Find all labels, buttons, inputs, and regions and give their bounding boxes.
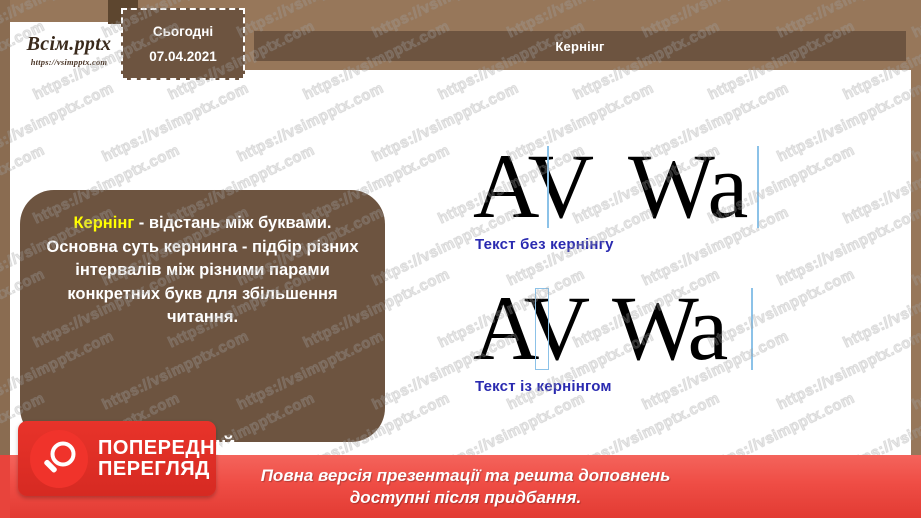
definition-term: Кернінг (73, 214, 134, 232)
date-label: Сьогодні (153, 25, 213, 39)
watermark-text: https://vsimpptx.com (909, 204, 921, 290)
watermark-text: https://vsimpptx.com (909, 80, 921, 166)
glyph-av-unkerned: AV (473, 135, 594, 237)
kerning-illustration: AVWa Текст без кернінгу AVWa Текст із ке… (455, 140, 875, 415)
preview-badge-text: ПОПЕРЕДНІЙ ПЕРЕГЛЯД (98, 438, 236, 480)
kerning-example-kerned: AVWa Текст із кернінгом (455, 282, 875, 412)
definition-line6: букв для збільшення (165, 285, 338, 303)
left-edge-strip (0, 0, 10, 518)
glyph-av-kerned: AV (473, 277, 586, 379)
banner-line-1: Повна версія презентації та решта доповн… (261, 466, 671, 486)
kern-marker-right (757, 146, 759, 228)
preview-line-1: ПОПЕРЕДНІЙ (98, 437, 236, 459)
slide-title-bar: Кернінг (254, 31, 906, 61)
kern-marker-left (547, 146, 549, 228)
page-title: Кернінг (555, 39, 604, 54)
magnifier-icon (30, 430, 88, 488)
preview-line-2: ПЕРЕГЛЯД (98, 459, 236, 480)
kerning-caption-kerned: Текст із кернінгом (475, 378, 612, 395)
logo-name: Всім.pptx (27, 34, 112, 54)
definition-text: Кернінг - відстань між буквами. Основна … (38, 212, 367, 330)
preview-badge[interactable]: ПОПЕРЕДНІЙ ПЕРЕГЛЯД (18, 421, 216, 496)
glyph-wa-kerned: Wa (612, 277, 724, 379)
date-badge: Сьогодні 07.04.2021 (121, 8, 245, 80)
kerning-caption-unkerned: Текст без кернінгу (475, 236, 614, 253)
definition-panel: Кернінг - відстань між буквами. Основна … (20, 190, 385, 442)
definition-line1-rest: - відстань між (134, 214, 253, 232)
kerning-example-unkerned: AVWa Текст без кернінгу (455, 140, 875, 270)
slide-root: https://vsimpptx.comhttps://vsimpptx.com… (0, 0, 921, 518)
glyph-sample-kerned: AVWa (473, 282, 724, 374)
glyph-sample-unkerned: AVWa (473, 140, 748, 232)
definition-line7: читання. (167, 308, 238, 326)
definition-line2: буквами. (258, 214, 331, 232)
watermark-text: https://vsimpptx.com (909, 328, 921, 414)
watermark-text: https://vsimpptx.com (909, 0, 921, 41)
site-logo: Всім.pptx https://vsimpptx.com (12, 24, 126, 76)
kern-marker-right (751, 288, 753, 370)
date-value: 07.04.2021 (149, 50, 217, 64)
kern-marker-box-left (535, 288, 549, 370)
glyph-wa-unkerned: Wa (628, 135, 748, 237)
banner-line-2: доступні після придбання. (350, 488, 581, 508)
definition-line3: Основна суть кернинга - (46, 238, 247, 256)
logo-url: https://vsimpptx.com (31, 57, 108, 67)
